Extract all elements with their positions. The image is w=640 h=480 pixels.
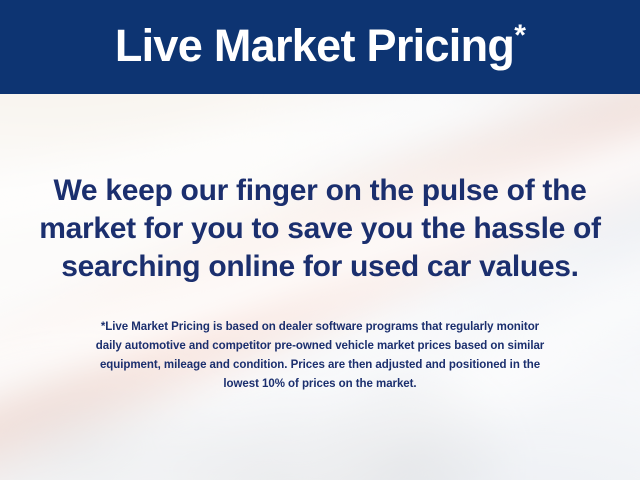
disclaimer-line-4: lowest 10% of prices on the market. [28,375,612,394]
disclaimer-line-3: equipment, mileage and condition. Prices… [28,356,612,375]
headline-line-2: market for you to save you the hassle of [24,210,616,248]
header-band: Live Market Pricing* [0,0,640,94]
content-area: We keep our finger on the pulse of the m… [0,94,640,480]
page-title-text: Live Market Pricing [115,20,514,71]
page-title: Live Market Pricing* [115,23,525,71]
disclaimer-line-1: *Live Market Pricing is based on dealer … [28,318,612,337]
disclaimer: *Live Market Pricing is based on dealer … [28,318,612,394]
page-title-asterisk: * [514,19,525,52]
live-market-pricing-banner: Live Market Pricing* We keep our finger … [0,0,640,480]
headline-line-1: We keep our finger on the pulse of the [24,172,616,210]
disclaimer-line-2: daily automotive and competitor pre-owne… [28,337,612,356]
headline: We keep our finger on the pulse of the m… [24,172,616,286]
headline-line-3: searching online for used car values. [24,248,616,286]
